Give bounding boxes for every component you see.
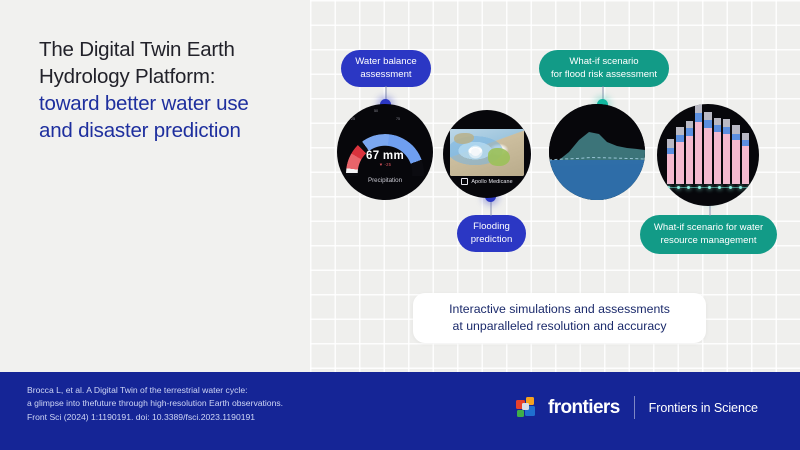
callout-whatif-water-line1: What-if scenario for water <box>654 222 763 235</box>
callout-water-balance[interactable]: Water balance assessment <box>341 50 431 87</box>
panel-flood-profile[interactable] <box>549 104 645 200</box>
citation: Brocca L, et al. A Digital Twin of the t… <box>27 384 283 424</box>
bar-item <box>686 121 693 184</box>
callout-water-balance-line2: assessment <box>355 69 417 82</box>
panel-medicane-map[interactable]: Apollo Medicane <box>443 110 531 198</box>
callout-whatif-flood[interactable]: What-if scenario for flood risk assessme… <box>539 50 669 87</box>
summary-banner: Interactive simulations and assessments … <box>413 293 706 343</box>
gauge-delta: ▼ -25 <box>337 162 433 167</box>
title-line-2: Hydrology Platform: <box>39 63 301 90</box>
callout-flooding-prediction[interactable]: Flooding prediction <box>457 215 526 252</box>
frontiers-in-science-label: Frontiers in Science <box>649 401 758 415</box>
gauge-caption: Precipitation <box>337 177 433 184</box>
bar-item <box>704 112 711 184</box>
logo-divider <box>634 396 635 419</box>
medicane-label-row: Apollo Medicane <box>443 178 531 185</box>
page-title: The Digital Twin Earth Hydrology Platfor… <box>39 36 301 144</box>
gauge-tick-labels: 25 50 75 <box>337 104 415 146</box>
callout-water-balance-line1: Water balance <box>355 56 417 69</box>
title-line-3: toward better water use <box>39 90 301 117</box>
gauge-tick-0: 25 <box>351 117 355 121</box>
banner-line-1: Interactive simulations and assessments <box>449 301 670 318</box>
chart-axis-line <box>665 187 751 188</box>
bar-item <box>714 118 721 184</box>
citation-line-3: Front Sci (2024) 1:1190191. doi: 10.3389… <box>27 411 283 424</box>
bar-item <box>742 133 749 184</box>
terrain-profile-chart <box>549 104 645 200</box>
panel-water-resources-chart[interactable] <box>657 104 759 206</box>
bar-item <box>667 139 674 184</box>
citation-line-1: Brocca L, et al. A Digital Twin of the t… <box>27 384 283 397</box>
callout-whatif-water-line2: resource management <box>654 235 763 248</box>
callout-whatif-flood-line2: for flood risk assessment <box>551 69 657 82</box>
callout-whatif-flood-line1: What-if scenario <box>551 56 657 69</box>
gauge-value: 67 mm <box>337 150 433 162</box>
medicane-label: Apollo Medicane <box>471 179 512 185</box>
layers-icon <box>461 178 468 185</box>
gauge-tick-2: 75 <box>396 117 400 121</box>
callout-flooding-line2: prediction <box>471 234 513 247</box>
bar-item <box>676 127 683 184</box>
callout-flooding-line1: Flooding <box>471 221 513 234</box>
bar-item <box>695 104 702 184</box>
bar-item <box>732 125 739 184</box>
medicane-map-card <box>450 129 524 176</box>
title-line-1: The Digital Twin Earth <box>39 36 301 63</box>
stacked-bar-chart <box>667 120 749 184</box>
panel-precipitation-gauge[interactable]: 25 50 75 67 mm ▼ -25 Precipitation <box>337 104 433 200</box>
citation-line-2: a glimpse into thefuture through high-re… <box>27 397 283 410</box>
frontiers-logo-icon <box>516 397 538 418</box>
frontiers-wordmark: frontiers <box>548 397 620 419</box>
banner-line-2: at unparalleled resolution and accuracy <box>453 318 667 335</box>
title-line-4: and disaster prediction <box>39 117 301 144</box>
gauge-tick-1: 50 <box>374 109 378 113</box>
bar-item <box>723 119 730 184</box>
callout-whatif-water[interactable]: What-if scenario for water resource mana… <box>640 215 777 254</box>
infographic-root: The Digital Twin Earth Hydrology Platfor… <box>0 0 800 450</box>
frontiers-logo[interactable]: frontiers Frontiers in Science <box>516 396 758 419</box>
